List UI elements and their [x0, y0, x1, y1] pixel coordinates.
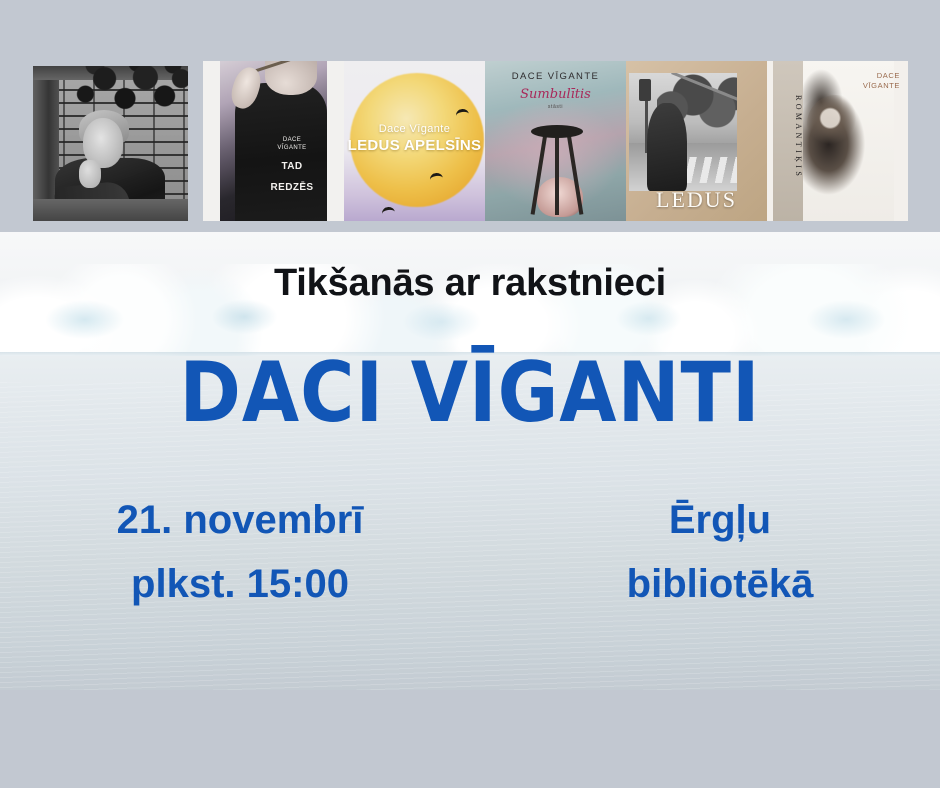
cover-title-line1: TAD [260, 161, 324, 173]
event-time: plkst. 15:00 [40, 552, 440, 616]
author-name-title: DACI VĪGANTI [0, 345, 940, 441]
cover-author-line2: VĪGANTE [260, 145, 324, 153]
gallery-band: DACE VĪGANTE TAD REDZĒS Dace Vīgante LED… [0, 0, 940, 232]
cover-author-line1: DACE [260, 137, 324, 145]
cover-title: Sumbulītis [485, 87, 626, 102]
author-portrait-photo [33, 66, 188, 221]
cover-author: DACE VĪGANTE [485, 71, 626, 82]
cover-title: LEDUS APELSĪNS [344, 137, 485, 154]
event-location: Ērgļu bibliotēkā [520, 488, 920, 616]
cover-photo [629, 73, 737, 191]
cover-spine-title: ROMANTIĶIS [773, 77, 803, 197]
stool-icon [529, 125, 585, 215]
cover-author: Dace Vīgante [344, 123, 485, 135]
book-cover-romantikis: ROMANTIĶIS DACE VĪGANTE [767, 61, 908, 221]
cover-author: DACE VĪGANTE [863, 71, 900, 90]
traffic-light-icon [639, 79, 651, 101]
cover-author-line1: DACE [863, 71, 900, 81]
cover-title-line2: REDZĒS [260, 182, 324, 194]
stool-leg [567, 133, 584, 215]
sponsor-logos-bar: VALSTS KULTŪRKAPITĀLA FONDS ma na madona… [0, 690, 940, 788]
book-cover-ledus-apelsins: Dace Vīgante LEDUS APELSĪNS [344, 61, 485, 221]
stool-seat [531, 125, 583, 138]
book-covers-strip: DACE VĪGANTE TAD REDZĒS Dace Vīgante LED… [203, 61, 908, 221]
event-date: 21. novembrī [40, 488, 440, 552]
book-cover-tad-redzes: DACE VĪGANTE TAD REDZĒS [203, 61, 344, 221]
portrait-table [33, 199, 188, 221]
cover-text-block: DACE VĪGANTE TAD REDZĒS [260, 137, 324, 194]
portrait-hand [79, 160, 101, 188]
stool-leg [555, 133, 559, 215]
book-cover-ledus: LEDUS [626, 61, 767, 221]
cover-title: LEDUS [626, 187, 767, 213]
cover-subtitle: stāsti [485, 104, 626, 110]
event-poster: DACE VĪGANTE TAD REDZĒS Dace Vīgante LED… [0, 0, 940, 788]
event-location-line1: Ērgļu [520, 488, 920, 552]
event-datetime: 21. novembrī plkst. 15:00 [40, 488, 440, 616]
figure-shape [647, 103, 687, 191]
page-title: Tikšanās ar rakstnieci [0, 262, 940, 305]
cover-author-line2: VĪGANTE [863, 81, 900, 91]
book-cover-sumbulitis: DACE VĪGANTE Sumbulītis stāsti [485, 61, 626, 221]
stool-leg [531, 133, 548, 215]
event-location-line2: bibliotēkā [520, 552, 920, 616]
